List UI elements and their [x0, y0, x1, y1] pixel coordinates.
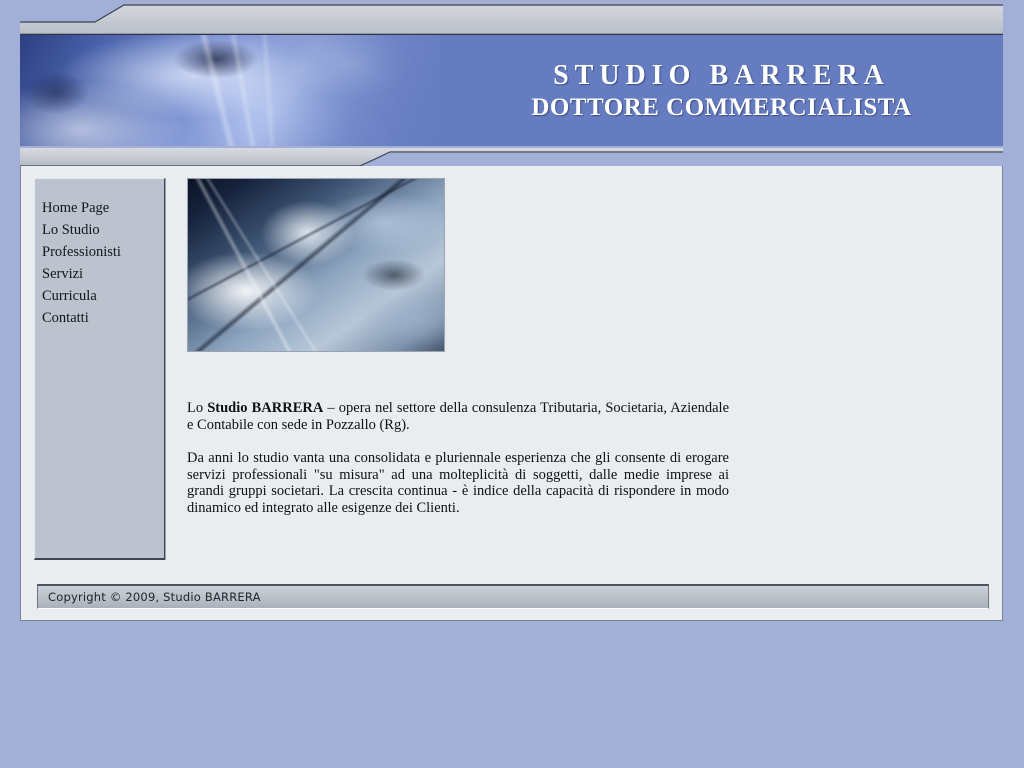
- sidebar-item-lo-studio[interactable]: Lo Studio: [42, 219, 166, 241]
- under-banner-strip: [20, 146, 1003, 168]
- page-subtitle: DOTTORE COMMERCIALISTA: [531, 94, 911, 122]
- site-header-banner: STUDIO BARRERA DOTTORE COMMERCIALISTA: [20, 34, 1003, 146]
- sidebar-nav: Home Page Lo Studio Professionisti Servi…: [42, 197, 166, 329]
- main-body-area: Home Page Lo Studio Professionisti Servi…: [20, 166, 1003, 621]
- top-decorative-bar: [20, 0, 1003, 36]
- sidebar-item-home-page[interactable]: Home Page: [42, 197, 166, 219]
- intro-lead-plain: Lo: [187, 400, 207, 416]
- sidebar-item-curricula[interactable]: Curricula: [42, 285, 166, 307]
- copyright-text: Copyright © 2009, Studio BARRERA: [38, 590, 261, 604]
- intro-lead-bold: Studio BARRERA: [207, 400, 323, 416]
- page-title: STUDIO BARRERA: [553, 60, 890, 92]
- content-photo: [187, 178, 445, 352]
- sidebar-divider: [165, 178, 166, 560]
- banner-titles: STUDIO BARRERA DOTTORE COMMERCIALISTA: [440, 35, 1003, 146]
- intro-paragraph: Lo Studio BARRERA – opera nel settore de…: [187, 400, 729, 433]
- sidebar-item-contatti[interactable]: Contatti: [42, 307, 166, 329]
- sidebar-panel: Home Page Lo Studio Professionisti Servi…: [34, 178, 165, 560]
- sidebar-item-professionisti[interactable]: Professionisti: [42, 241, 166, 263]
- under-banner-shape: [20, 146, 1003, 168]
- page-container: STUDIO BARRERA DOTTORE COMMERCIALISTA Ho…: [20, 0, 1003, 621]
- footer-bar: Copyright © 2009, Studio BARRERA: [37, 584, 989, 609]
- content-column: Lo Studio BARRERA – opera nel settore de…: [187, 178, 747, 516]
- description-paragraph: Da anni lo studio vanta una consolidata …: [187, 450, 729, 516]
- sidebar-item-servizi[interactable]: Servizi: [42, 263, 166, 285]
- top-bar-outline: [20, 0, 1003, 36]
